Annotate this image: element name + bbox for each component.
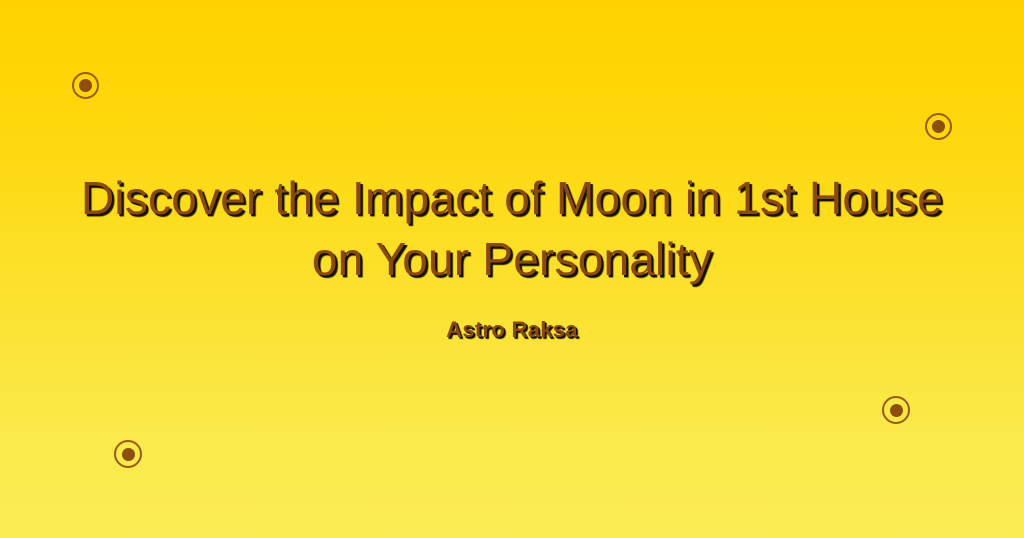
ring-dot-core <box>890 404 903 417</box>
ring-dot-bottom-right-icon <box>882 396 910 424</box>
ring-dot-bottom-left-icon <box>114 440 142 468</box>
ring-dot-core <box>122 448 135 461</box>
ring-dot-top-right-icon <box>925 113 952 140</box>
slide-text-block: Discover the Impact of Moon in 1st House… <box>0 168 1024 343</box>
slide-title: Discover the Impact of Moon in 1st House… <box>40 168 984 289</box>
slide-subtitle: Astro Raksa <box>40 317 984 343</box>
ring-dot-core <box>932 120 945 133</box>
ring-dot-core <box>79 79 92 92</box>
presentation-slide: Discover the Impact of Moon in 1st House… <box>0 0 1024 538</box>
ring-dot-top-left-icon <box>72 72 99 99</box>
